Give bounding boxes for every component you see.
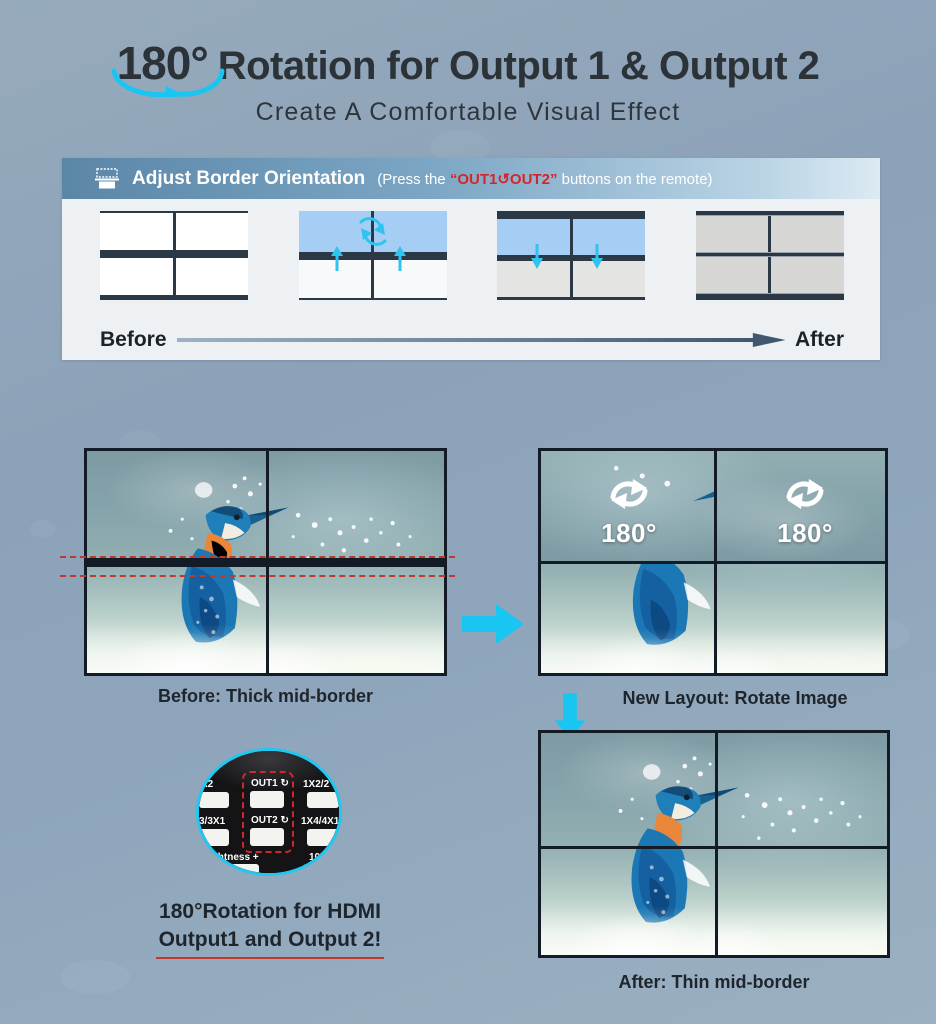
panel-row-top bbox=[299, 211, 447, 252]
remote-label-3x1: 3/3X1 bbox=[199, 816, 225, 827]
remote-btn-x2[interactable] bbox=[199, 792, 229, 808]
water-foam bbox=[541, 906, 887, 955]
panel-cell bbox=[771, 216, 844, 252]
before-caption: Before: Thick mid-border bbox=[84, 686, 447, 707]
after-caption: After: Thin mid-border bbox=[538, 972, 890, 993]
panel-shift-down bbox=[497, 211, 645, 300]
remote-label-10: 10 bbox=[309, 852, 320, 863]
panel-cell bbox=[176, 258, 249, 295]
cell-bottom-left bbox=[541, 564, 714, 673]
remote-label-1x2: 1X2/2 bbox=[303, 779, 329, 790]
note-prefix: (Press the bbox=[377, 171, 450, 188]
panel-row-bottom bbox=[100, 258, 248, 295]
remote-btn-10[interactable] bbox=[303, 864, 337, 876]
panel-strip bbox=[62, 199, 880, 300]
kingfisher-scene bbox=[541, 733, 887, 955]
new-layout-screenshot: 180° 180° bbox=[538, 448, 888, 676]
water-foam bbox=[717, 629, 885, 673]
note-out1: OUT1 bbox=[457, 171, 497, 188]
panel-cell bbox=[100, 213, 173, 250]
panel-cell bbox=[299, 211, 372, 252]
progress-arrow-icon bbox=[177, 333, 785, 347]
remote-btn-brightness[interactable] bbox=[221, 864, 259, 876]
bg-bokeh bbox=[60, 960, 130, 994]
card-header: Adjust Border Orientation (Press the “OU… bbox=[62, 158, 880, 199]
before-screenshot bbox=[84, 448, 447, 676]
remote-btn-1x2[interactable] bbox=[307, 792, 339, 808]
thick-border-marker-top bbox=[60, 556, 455, 558]
remote-highlight-box bbox=[242, 771, 294, 853]
remote-label-x2: X2 bbox=[201, 779, 213, 790]
rotate-180-icon bbox=[779, 475, 831, 513]
before-label: Before bbox=[100, 328, 167, 352]
before-after-bar: Before After bbox=[100, 328, 844, 352]
panel-cell bbox=[696, 216, 769, 252]
page-header: 180° Rotation for Output 1 & Output 2 Cr… bbox=[0, 36, 936, 127]
remote-btn-3x1[interactable] bbox=[199, 829, 229, 846]
monitor-icon bbox=[94, 168, 120, 190]
panel-after bbox=[696, 211, 844, 300]
water-foam bbox=[541, 629, 714, 673]
panel-cell bbox=[696, 257, 769, 293]
panel-row-top bbox=[100, 213, 248, 250]
panel-cell bbox=[771, 257, 844, 293]
rotate-badge-label: 180° bbox=[777, 518, 833, 548]
remote-caption: 180°Rotation for HDMI Output1 and Output… bbox=[105, 898, 435, 959]
card-header-title: Adjust Border Orientation bbox=[132, 168, 365, 190]
rotate-badge-left: 180° bbox=[593, 475, 665, 549]
panel-cell bbox=[374, 211, 447, 252]
panel-rotate-up bbox=[299, 211, 447, 300]
bg-bokeh bbox=[30, 520, 56, 538]
panel-cell bbox=[374, 260, 447, 298]
panel-cell bbox=[497, 219, 570, 255]
panel-cell bbox=[497, 261, 570, 297]
note-suffix: buttons on the remote) bbox=[557, 171, 712, 188]
grid-vertical bbox=[715, 733, 718, 955]
panel-row-bottom bbox=[497, 261, 645, 297]
kingfisher-scene bbox=[541, 564, 714, 673]
remote-caption-underline bbox=[156, 957, 384, 959]
card-header-note: (Press the “OUT1↺OUT2” buttons on the re… bbox=[377, 170, 712, 188]
panel-row-bottom bbox=[696, 256, 844, 294]
after-label: After bbox=[795, 328, 844, 352]
panel-cell bbox=[299, 260, 372, 298]
after-screenshot bbox=[538, 730, 890, 958]
grid-horizontal-thin bbox=[541, 846, 887, 849]
panel-row-bottom bbox=[299, 260, 447, 298]
rotation-arc-icon bbox=[108, 63, 228, 97]
page-title: Rotation for Output 1 & Output 2 bbox=[218, 44, 820, 89]
panel-cell bbox=[176, 213, 249, 250]
new-layout-caption: New Layout: Rotate Image bbox=[570, 688, 900, 709]
panel-cell bbox=[573, 261, 646, 297]
rotate-badge-right: 180° bbox=[769, 475, 841, 549]
grid-horizontal bbox=[541, 561, 885, 564]
remote-caption-line1: 180°Rotation for HDMI bbox=[105, 898, 435, 926]
arrow-right-icon bbox=[462, 600, 526, 648]
border-orientation-card: Adjust Border Orientation (Press the “OU… bbox=[62, 158, 880, 360]
panel-cell bbox=[573, 219, 646, 255]
remote-label-brightness: rightness + bbox=[205, 852, 259, 863]
title-line: 180° Rotation for Output 1 & Output 2 bbox=[117, 36, 820, 90]
panel-row-top bbox=[696, 215, 844, 253]
panel-cell bbox=[100, 258, 173, 295]
remote-btn-1x4[interactable] bbox=[307, 829, 339, 846]
new-layout-scene-wrap: 180° 180° bbox=[541, 451, 885, 673]
rotate-180-icon bbox=[603, 475, 655, 513]
remote-label-1x4: 1X4/4X1 bbox=[301, 816, 339, 827]
before-scene-wrap bbox=[87, 451, 444, 673]
remote-caption-line2: Output1 and Output 2! bbox=[105, 926, 435, 954]
panel-before bbox=[100, 211, 248, 300]
card-body: Before After bbox=[62, 199, 880, 360]
remote-closeup: X2 OUT1 ↻ 1X2/2 3/3X1 OUT2 ↻ 1X4/4X1 rig… bbox=[196, 748, 342, 876]
grid-horizontal-thick bbox=[87, 558, 444, 567]
rotate-icon: ↺ bbox=[497, 171, 510, 188]
thick-border-marker-bottom bbox=[60, 575, 455, 577]
kingfisher-scene bbox=[717, 564, 885, 673]
degrees-badge: 180° bbox=[117, 36, 208, 90]
rotate-badge-label: 180° bbox=[601, 518, 657, 548]
after-scene-wrap bbox=[541, 733, 887, 955]
cell-bottom-right bbox=[717, 564, 885, 673]
panel-row-top bbox=[497, 219, 645, 255]
note-out2: OUT2 bbox=[510, 171, 550, 188]
page-subtitle: Create A Comfortable Visual Effect bbox=[0, 98, 936, 127]
